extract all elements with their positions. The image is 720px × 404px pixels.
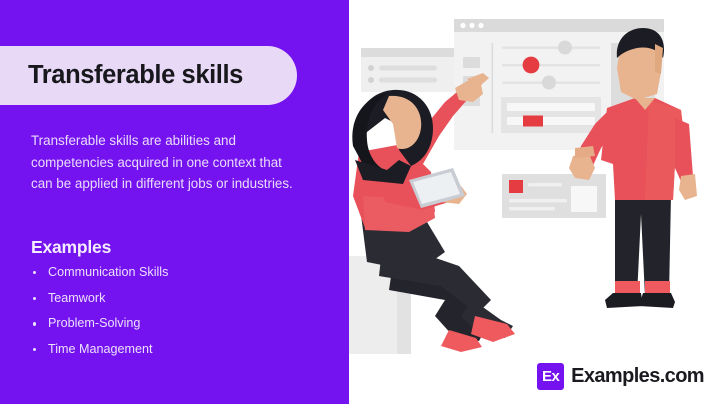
list-item-label: Time Management [48, 342, 153, 356]
bullet-dot-icon [33, 322, 36, 325]
logo-mark-icon: Ex [537, 363, 564, 390]
list-item: Problem-Solving [31, 317, 311, 330]
examples-list: Communication Skills Teamwork Problem-So… [31, 266, 311, 368]
list-item-label: Problem-Solving [48, 316, 140, 330]
list-item: Time Management [31, 343, 311, 356]
illustration-panel [349, 0, 720, 404]
form-panel [501, 97, 601, 133]
teamwork-illustration [349, 0, 720, 404]
examples-logo[interactable]: Ex Examples.com [537, 363, 704, 390]
examples-heading: Examples [31, 237, 111, 258]
page-title: Transferable skills [28, 61, 243, 90]
slide-canvas: Transferable skills Transferable skills … [0, 0, 720, 404]
left-content-panel: Transferable skills Transferable skills … [0, 0, 349, 404]
title-pill: Transferable skills [0, 46, 297, 105]
small-list-card [361, 48, 456, 92]
list-item-label: Teamwork [48, 291, 105, 305]
list-item-label: Communication Skills [48, 265, 168, 279]
bullet-dot-icon [33, 271, 36, 274]
logo-wordmark: Examples.com [571, 365, 704, 388]
list-item: Communication Skills [31, 266, 311, 279]
bottom-info-card [502, 174, 606, 218]
bullet-dot-icon [33, 348, 36, 351]
list-item: Teamwork [31, 292, 311, 305]
description-text: Transferable skills are abilities and co… [31, 130, 299, 195]
bullet-dot-icon [33, 297, 36, 300]
